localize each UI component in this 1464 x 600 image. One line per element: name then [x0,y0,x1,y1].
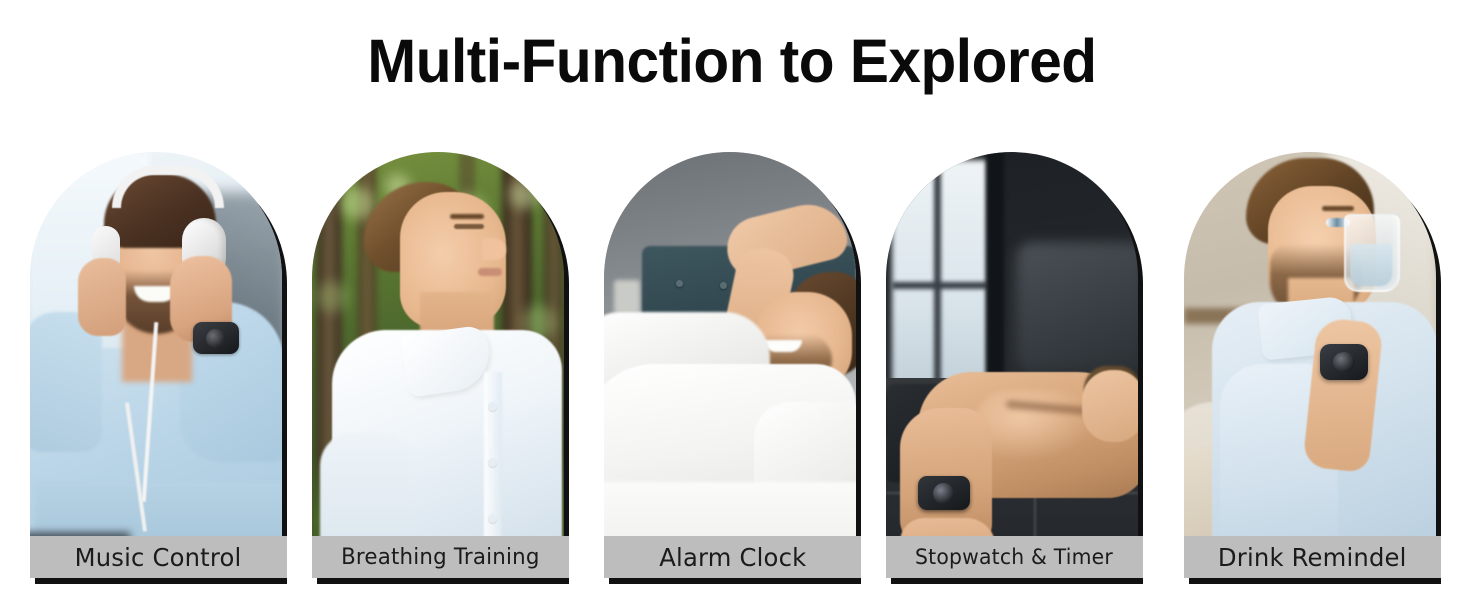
card-photo-stopwatch-timer [886,152,1138,578]
card-body [886,152,1138,578]
card-label-breathing-training: Breathing Training [312,536,569,578]
smartwatch-icon [193,322,239,354]
card-photo-music-control [30,152,282,578]
card-photo-alarm-clock [604,152,856,578]
card-label-music-control: Music Control [30,536,287,578]
card-label-alarm-clock: Alarm Clock [604,536,861,578]
card-label-text: Music Control [75,543,242,572]
smartwatch-icon [918,476,970,510]
card-label-drink-reminder: Drink Remindel [1184,536,1441,578]
card-photo-breathing-training [312,152,564,578]
card-photo-drink-reminder [1184,152,1436,578]
feature-card-strip: Music Control [0,152,1464,582]
feature-card-music-control[interactable]: Music Control [30,152,282,578]
card-label-text: Breathing Training [341,545,540,570]
feature-card-stopwatch-timer[interactable]: Stopwatch & Timer [886,152,1138,578]
card-label-text: Stopwatch & Timer [916,545,1114,569]
card-body [604,152,856,578]
feature-card-alarm-clock[interactable]: Alarm Clock [604,152,856,578]
feature-card-breathing-training[interactable]: Breathing Training [312,152,564,578]
card-label-text: Drink Remindel [1218,543,1407,572]
card-label-text: Alarm Clock [659,543,806,572]
smartwatch-icon [1320,344,1368,380]
page-title: Multi-Function to Explored [29,22,1434,100]
card-body [30,152,282,578]
card-body [312,152,564,578]
feature-card-drink-reminder[interactable]: Drink Remindel [1184,152,1436,578]
card-body [1184,152,1436,578]
card-label-stopwatch-timer: Stopwatch & Timer [886,536,1143,578]
